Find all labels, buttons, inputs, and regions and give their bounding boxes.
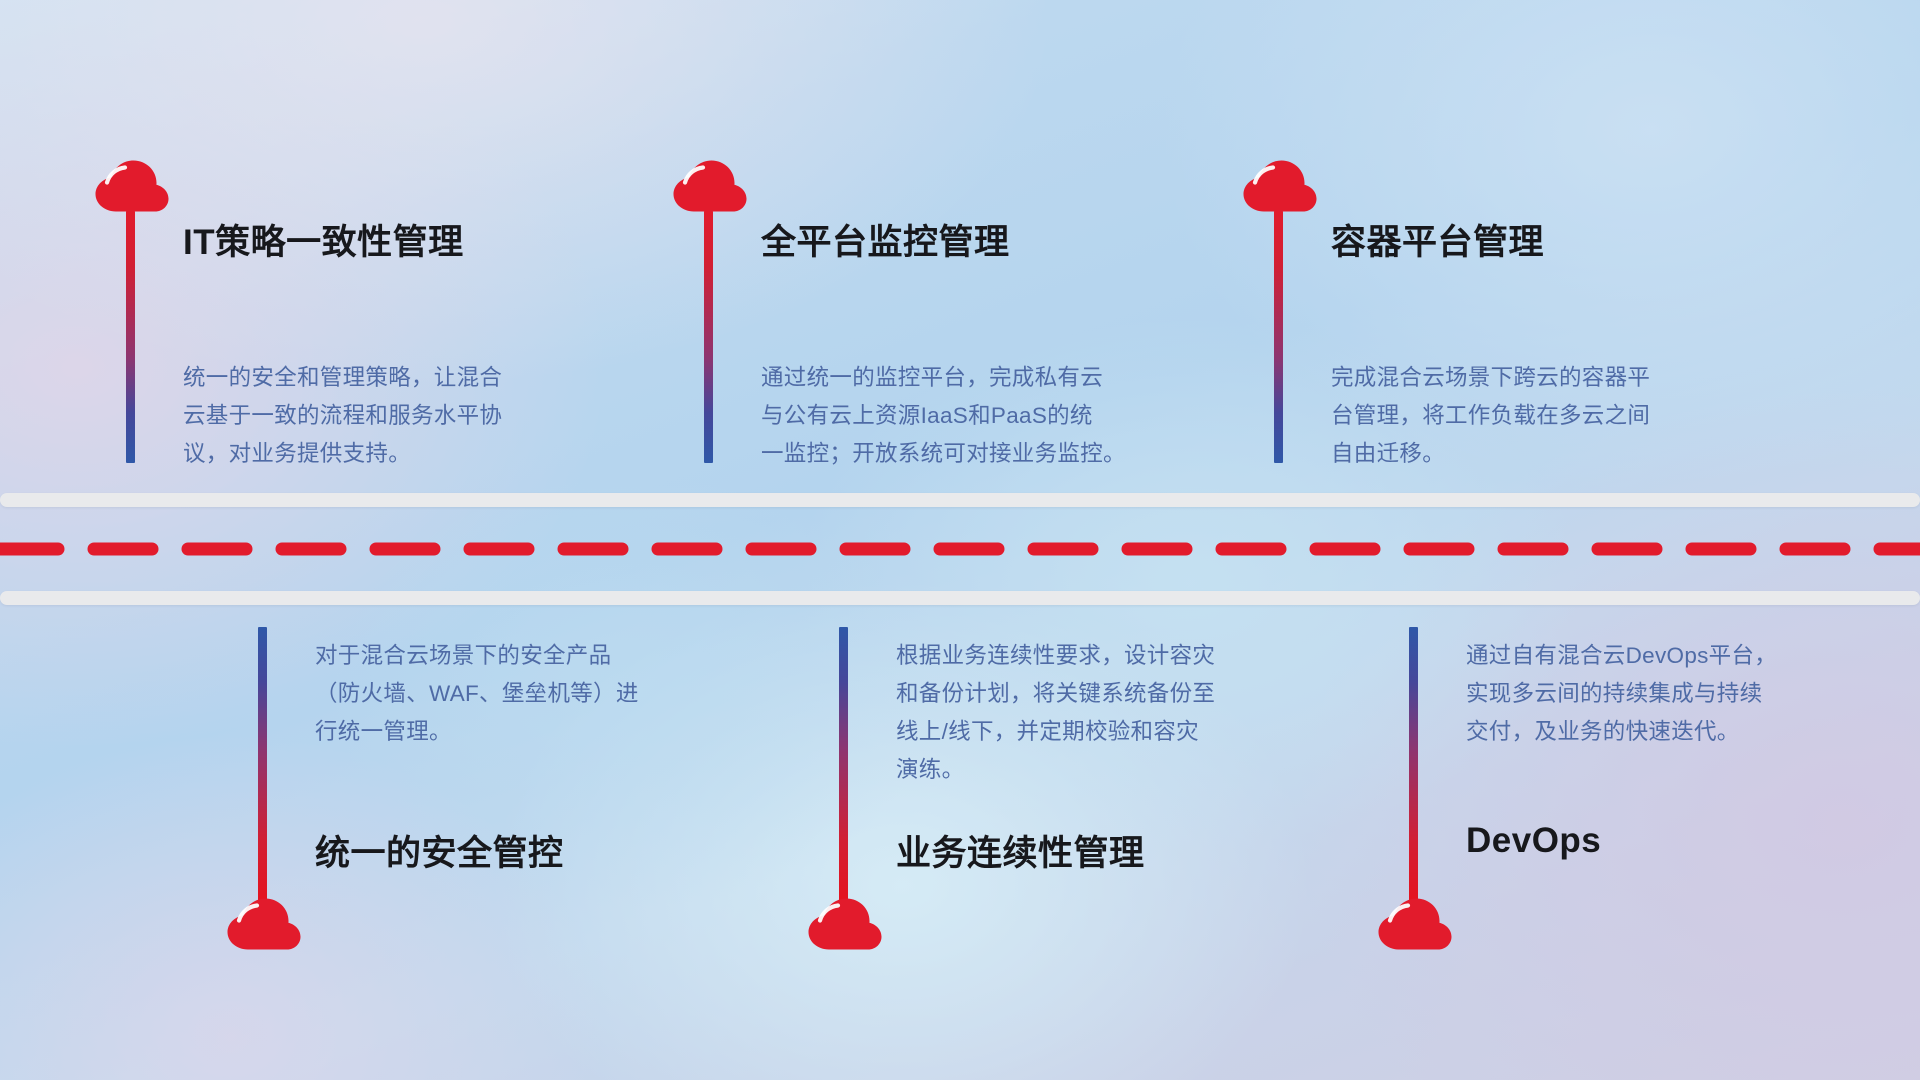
milestone-heading: 容器平台管理 bbox=[1331, 214, 1544, 265]
milestone-stem bbox=[126, 211, 135, 463]
milestone-heading: 全平台监控管理 bbox=[761, 214, 1010, 265]
milestone-body: 统一的安全和管理策略，让混合 云基于一致的流程和服务水平协 议，对业务提供支持。 bbox=[183, 359, 613, 473]
cloud-icon bbox=[808, 898, 882, 950]
milestone-columns: IT策略一致性管理 统一的安全和管理策略，让混合 云基于一致的流程和服务水平协 … bbox=[0, 0, 1920, 1080]
cloud-icon bbox=[1243, 160, 1317, 212]
milestone-stem bbox=[839, 627, 848, 901]
milestone-stem bbox=[1274, 211, 1283, 463]
milestone-body: 对于混合云场景下的安全产品 （防火墙、WAF、堡垒机等）进 行统一管理。 bbox=[315, 637, 745, 751]
milestone-body: 根据业务连续性要求，设计容灾 和备份计划，将关键系统备份至 线上/线下，并定期校… bbox=[896, 637, 1336, 789]
milestone-body: 通过自有混合云DevOps平台， 实现多云间的持续集成与持续 交付，及业务的快速… bbox=[1466, 637, 1906, 751]
cloud-icon bbox=[95, 160, 169, 212]
milestone-heading: DevOps bbox=[1466, 821, 1601, 861]
milestone-stem bbox=[704, 211, 713, 463]
milestone-stem bbox=[258, 627, 267, 901]
cloud-icon bbox=[1378, 898, 1452, 950]
milestone-body: 完成混合云场景下跨云的容器平 台管理，将工作负载在多云之间 自由迁移。 bbox=[1331, 359, 1781, 473]
milestone-heading: 业务连续性管理 bbox=[896, 825, 1145, 876]
milestone-heading: IT策略一致性管理 bbox=[183, 214, 464, 265]
milestone-heading: 统一的安全管控 bbox=[315, 825, 564, 876]
cloud-icon bbox=[227, 898, 301, 950]
cloud-icon bbox=[673, 160, 747, 212]
milestone-body: 通过统一的监控平台，完成私有云 与公有云上资源IaaS和PaaS的统 一监控；开… bbox=[761, 359, 1211, 473]
milestone-stem bbox=[1409, 627, 1418, 901]
